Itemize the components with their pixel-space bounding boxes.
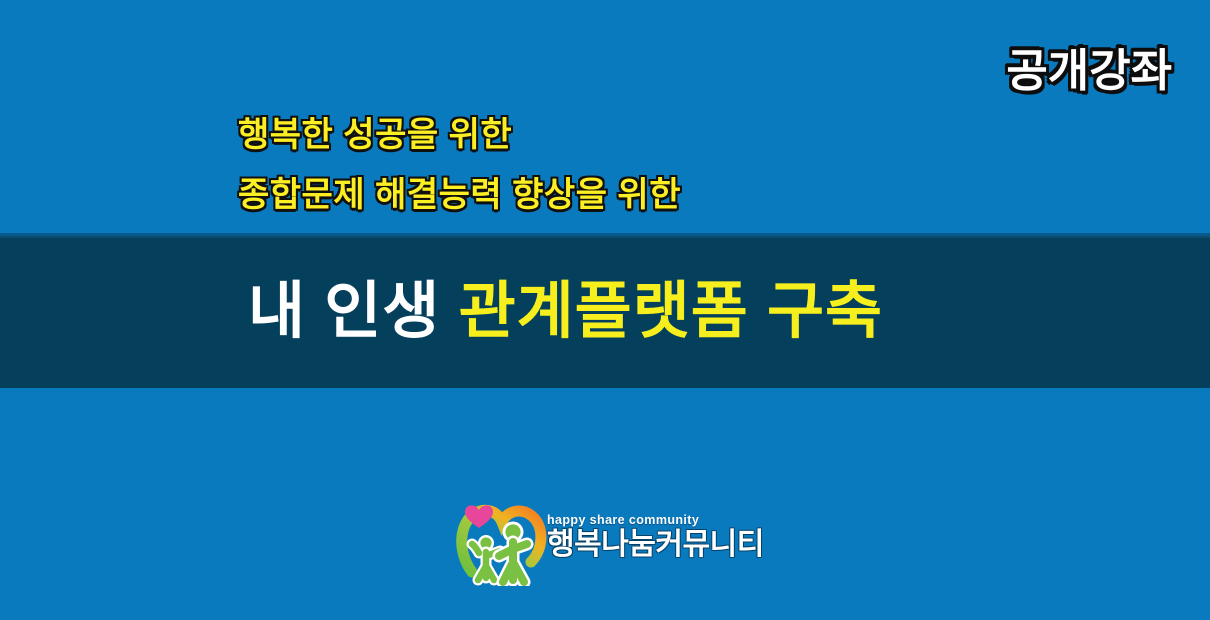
title-band: 내 인생 관계플랫폼 구축	[0, 236, 1210, 388]
subtitle-line-1: 행복한 성공을 위한	[238, 118, 681, 152]
logo-tagline: happy share community	[547, 514, 757, 527]
page-title: 내 인생 관계플랫폼 구축	[248, 281, 883, 343]
logo-name: 행복나눔커뮤니티	[547, 530, 757, 560]
subtitle-line-2: 종합문제 해결능력 향상을 위한	[238, 178, 681, 212]
page-title-primary: 내 인생	[248, 277, 440, 346]
course-type-badge: 공개강좌	[1006, 48, 1172, 93]
subtitle-group: 행복한 성공을 위한 종합문제 해결능력 향상을 위한	[238, 118, 681, 212]
page-title-highlight: 관계플랫폼 구축	[459, 277, 884, 346]
happy-share-community-logo-mark-icon	[455, 494, 547, 586]
organization-logo: happy share community 행복나눔커뮤니티	[455, 494, 755, 586]
slide-canvas: 공개강좌 행복한 성공을 위한 종합문제 해결능력 향상을 위한 내 인생 관계…	[0, 0, 1210, 620]
logo-wordmark: happy share community 행복나눔커뮤니티	[547, 514, 757, 560]
